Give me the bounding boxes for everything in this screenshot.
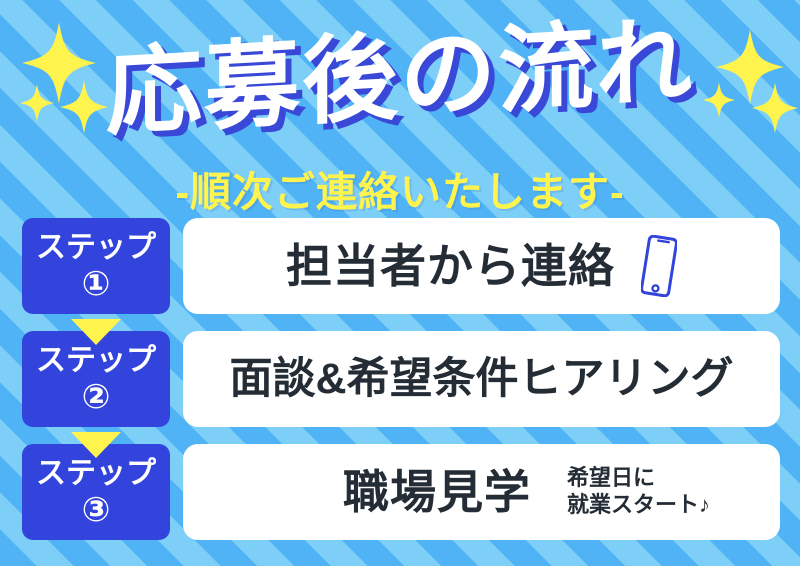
step-card-text: 担当者から連絡 <box>286 243 615 289</box>
step-card-3: 職場見学 希望日に 就業スタート♪ <box>183 444 780 540</box>
steps-list: ステップ ① 担当者から連絡 <box>0 218 800 548</box>
step-badge-2: ステップ ② <box>22 331 170 427</box>
step-card-text: 面談&希望条件ヒアリング <box>229 358 733 401</box>
step-card-1: 担当者から連絡 <box>183 218 780 314</box>
sparkle-icon <box>60 80 108 134</box>
poster-root: 応募後の流れ -順次ご連絡いたします- ステップ ① 担当者から連絡 <box>0 0 800 566</box>
step-badge-label: ステップ <box>36 459 156 489</box>
step-row-2: ステップ ② 面談&希望条件ヒアリング <box>0 331 800 427</box>
step-badge-number: ① <box>82 267 111 301</box>
step-card-text: 職場見学 <box>343 469 531 515</box>
note-line-1: 希望日に <box>567 465 655 490</box>
step-card-note: 希望日に 就業スタート♪ <box>567 465 710 519</box>
sparkle-icon <box>752 82 798 134</box>
step-row-3: ステップ ③ 職場見学 希望日に 就業スタート♪ <box>0 444 800 540</box>
smartphone-icon <box>641 235 677 297</box>
sparkle-icon <box>703 82 735 118</box>
step-badge-label: ステップ <box>36 233 156 263</box>
step-row-1: ステップ ① 担当者から連絡 <box>0 218 800 314</box>
step-badge-number: ③ <box>82 493 111 527</box>
step-card-2: 面談&希望条件ヒアリング <box>183 331 780 427</box>
step-badge-3: ステップ ③ <box>22 444 170 540</box>
step-badge-1: ステップ ① <box>22 218 170 314</box>
step-badge-label: ステップ <box>36 346 156 376</box>
page-subtitle: -順次ご連絡いたします- <box>175 158 624 218</box>
sparkle-icon <box>20 84 54 122</box>
subtitle-container: -順次ご連絡いたします- <box>0 158 800 218</box>
step-badge-number: ② <box>82 380 111 414</box>
note-line-2: 就業スタート♪ <box>567 492 710 517</box>
